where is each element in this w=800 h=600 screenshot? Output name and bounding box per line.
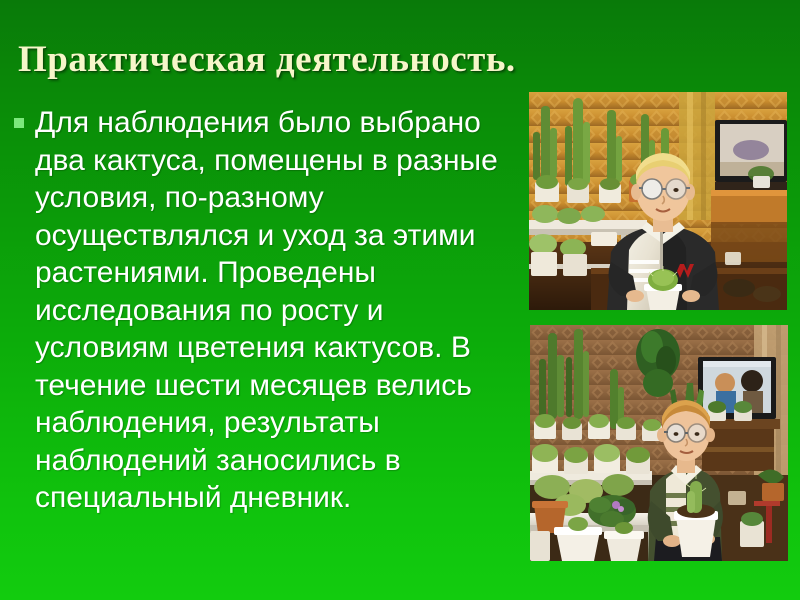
bullet-square-icon bbox=[14, 118, 24, 128]
slide: Практическая деятельность. Для наблюдени… bbox=[0, 0, 800, 600]
photo-bottom-artwork bbox=[530, 325, 788, 561]
body-paragraph: Для наблюдения было выбрано два кактуса,… bbox=[35, 104, 520, 517]
page-title: Практическая деятельность. bbox=[18, 38, 778, 82]
body-bullet-item: Для наблюдения было выбрано два кактуса,… bbox=[8, 104, 520, 517]
photo-top-artwork bbox=[529, 92, 787, 310]
boy-holding-cactus-photo bbox=[529, 92, 787, 310]
boy-with-cactus-collection-photo bbox=[530, 325, 788, 561]
